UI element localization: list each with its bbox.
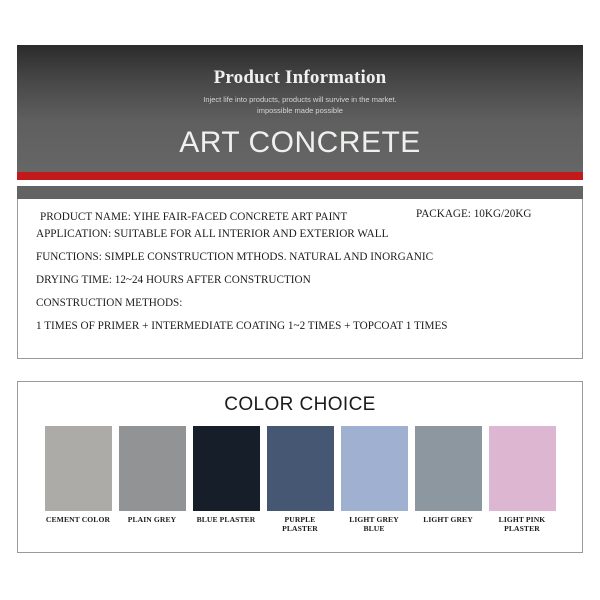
color-swatch-item[interactable]: CEMENT COLOR bbox=[45, 426, 112, 534]
product-main-title: ART CONCRETE bbox=[17, 117, 583, 160]
color-swatch-item[interactable]: PURPLE PLASTER bbox=[267, 426, 334, 534]
header-subtitle: Inject life into products, products will… bbox=[17, 89, 583, 117]
spec-drying-time: DRYING TIME: 12~24 HOURS AFTER CONSTRUCT… bbox=[36, 274, 311, 286]
color-choice-panel: COLOR CHOICE CEMENT COLORPLAIN GREYBLUE … bbox=[17, 381, 583, 553]
color-choice-title: COLOR CHOICE bbox=[18, 382, 582, 416]
spec-construction-methods-detail: 1 TIMES OF PRIMER + INTERMEDIATE COATING… bbox=[36, 320, 448, 332]
color-swatch-chip[interactable] bbox=[341, 426, 408, 511]
color-swatch-label: PURPLE PLASTER bbox=[267, 515, 334, 534]
spec-row: PRODUCT NAME: YIHE FAIR-FACED CONCRETE A… bbox=[36, 211, 564, 223]
spec-application: APPLICATION: SUITABLE FOR ALL INTERIOR A… bbox=[36, 228, 388, 240]
specifications-panel: PRODUCT NAME: YIHE FAIR-FACED CONCRETE A… bbox=[17, 199, 583, 359]
spec-row: CONSTRUCTION METHODS: bbox=[36, 297, 564, 309]
color-swatch-label: PLAIN GREY bbox=[119, 515, 186, 524]
color-swatch-chip[interactable] bbox=[119, 426, 186, 511]
spec-row: DRYING TIME: 12~24 HOURS AFTER CONSTRUCT… bbox=[36, 274, 564, 286]
spec-row: 1 TIMES OF PRIMER + INTERMEDIATE COATING… bbox=[36, 320, 564, 332]
spec-product-name: PRODUCT NAME: YIHE FAIR-FACED CONCRETE A… bbox=[40, 211, 347, 223]
color-swatch-chip[interactable] bbox=[193, 426, 260, 511]
color-swatch-chip[interactable] bbox=[267, 426, 334, 511]
color-swatch-item[interactable]: LIGHT GREY bbox=[415, 426, 482, 534]
color-swatch-label: BLUE PLASTER bbox=[193, 515, 260, 524]
header-accent-bar bbox=[17, 172, 583, 180]
color-swatch-label: LIGHT GREY bbox=[415, 515, 482, 524]
color-swatch-label: LIGHT GREY BLUE bbox=[341, 515, 408, 534]
color-swatch-row: CEMENT COLORPLAIN GREYBLUE PLASTERPURPLE… bbox=[18, 426, 582, 534]
color-swatch-item[interactable]: BLUE PLASTER bbox=[193, 426, 260, 534]
color-swatch-item[interactable]: PLAIN GREY bbox=[119, 426, 186, 534]
spec-functions: FUNCTIONS: SIMPLE CONSTRUCTION MTHODS. N… bbox=[36, 251, 433, 263]
spec-package: PACKAGE: 10KG/20KG bbox=[416, 208, 532, 220]
header-banner: Product Information Inject life into pro… bbox=[17, 45, 583, 172]
color-swatch-label: CEMENT COLOR bbox=[45, 515, 112, 524]
spec-row: APPLICATION: SUITABLE FOR ALL INTERIOR A… bbox=[36, 228, 564, 240]
header-title: Product Information bbox=[17, 45, 583, 89]
color-swatch-label: LIGHT PINK PLASTER bbox=[489, 515, 556, 534]
color-swatch-chip[interactable] bbox=[45, 426, 112, 511]
spec-construction-methods-label: CONSTRUCTION METHODS: bbox=[36, 297, 182, 309]
color-swatch-item[interactable]: LIGHT GREY BLUE bbox=[341, 426, 408, 534]
color-swatch-item[interactable]: LIGHT PINK PLASTER bbox=[489, 426, 556, 534]
color-swatch-chip[interactable] bbox=[415, 426, 482, 511]
color-swatch-chip[interactable] bbox=[489, 426, 556, 511]
specs-top-band bbox=[17, 186, 583, 199]
spec-row: FUNCTIONS: SIMPLE CONSTRUCTION MTHODS. N… bbox=[36, 251, 564, 263]
